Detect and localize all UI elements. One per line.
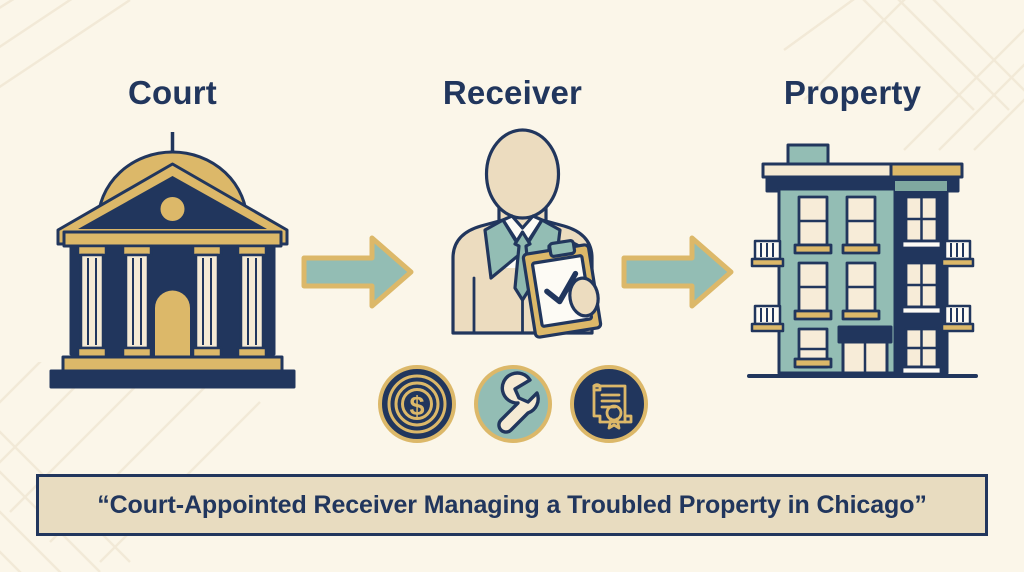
stage-receiver: [425, 128, 620, 343]
heading-receiver: Receiver: [340, 74, 685, 112]
dollar-coin-icon[interactable]: $: [378, 365, 456, 443]
certificate-icon[interactable]: [570, 365, 648, 443]
caption-text: “Court-Appointed Receiver Managing a Tro…: [97, 491, 927, 520]
arrow-receiver-to-property: [620, 232, 735, 312]
caption-banner: “Court-Appointed Receiver Managing a Tro…: [36, 474, 988, 536]
stage-property: [745, 133, 980, 388]
heading-property: Property: [680, 74, 1024, 112]
receiver-duty-badges: $: [378, 362, 648, 446]
arrow-court-to-receiver: [300, 232, 415, 312]
svg-text:$: $: [409, 391, 424, 421]
receiver-person-icon: [425, 128, 620, 343]
wrench-icon[interactable]: [474, 365, 552, 443]
apartment-building-icon: [745, 133, 980, 388]
corner-pattern-bottom-left: [0, 362, 290, 572]
heading-court: Court: [0, 74, 345, 112]
infographic-canvas: Court Receiver Property: [0, 0, 1024, 572]
stage-court: [40, 130, 305, 390]
courthouse-icon: [40, 130, 305, 390]
